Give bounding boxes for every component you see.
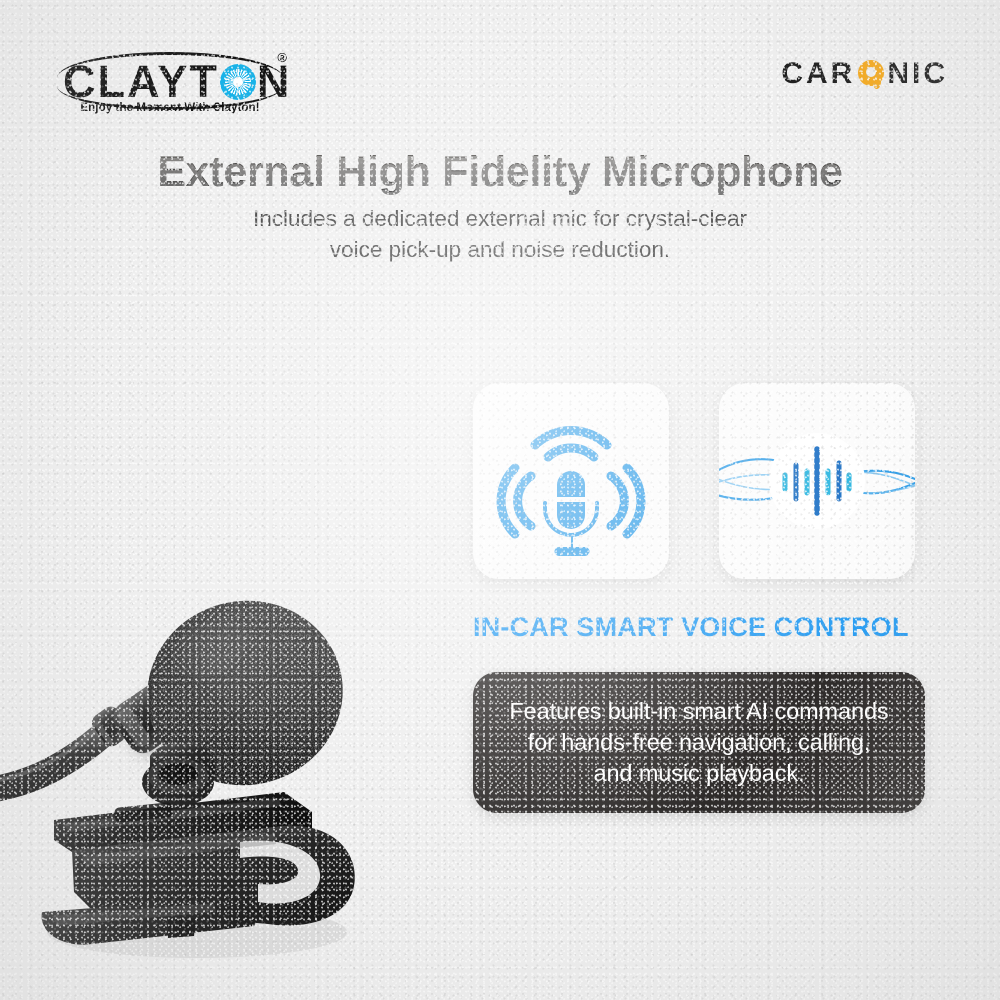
registered-trademark-icon: ®	[277, 50, 287, 65]
clayton-letters-left: CLAYT	[63, 56, 219, 108]
feature-description-text: Features built-in smart AI commands for …	[491, 696, 906, 789]
feature-description-card: Features built-in smart AI commands for …	[473, 672, 925, 813]
feature-heading: IN-CAR SMART VOICE CONTROL	[473, 612, 933, 643]
clayton-tagline: Enjoy the Moment With Clayton!	[55, 102, 285, 114]
location-pin-icon	[858, 60, 884, 88]
description-line-3: and music playback.	[509, 758, 888, 789]
page-title: External High Fidelity Microphone	[0, 148, 1000, 197]
audio-waveform-icon	[719, 383, 915, 579]
clayton-sunburst-o-icon	[220, 64, 256, 100]
feature-card-audio-waveform	[719, 383, 915, 579]
subtitle-line-1: Includes a dedicated external mic for cr…	[0, 203, 1000, 234]
clip-on-microphone-illustration	[0, 520, 402, 970]
product-photo-microphone	[0, 520, 402, 970]
description-line-2: for hands-free navigation, calling,	[509, 727, 888, 758]
microphone-broadcast-icon	[473, 383, 669, 579]
caronic-letters-left: CAR	[781, 57, 855, 91]
clayton-wordmark: CLAYT N	[63, 56, 291, 108]
description-line-1: Features built-in smart AI commands	[509, 696, 888, 727]
clayton-logo: CLAYT N ® Enjoy the Moment With Clayton!	[55, 50, 285, 122]
caronic-letters-right: NIC	[887, 57, 948, 91]
feature-card-voice-mic	[473, 383, 669, 579]
caronic-logo: CAR NIC	[781, 57, 948, 91]
page-subtitle: Includes a dedicated external mic for cr…	[0, 203, 1000, 265]
promo-banner: CLAYT N ® Enjoy the Moment With Clayton!…	[0, 0, 1000, 1000]
subtitle-line-2: voice pick-up and noise reduction.	[0, 234, 1000, 265]
